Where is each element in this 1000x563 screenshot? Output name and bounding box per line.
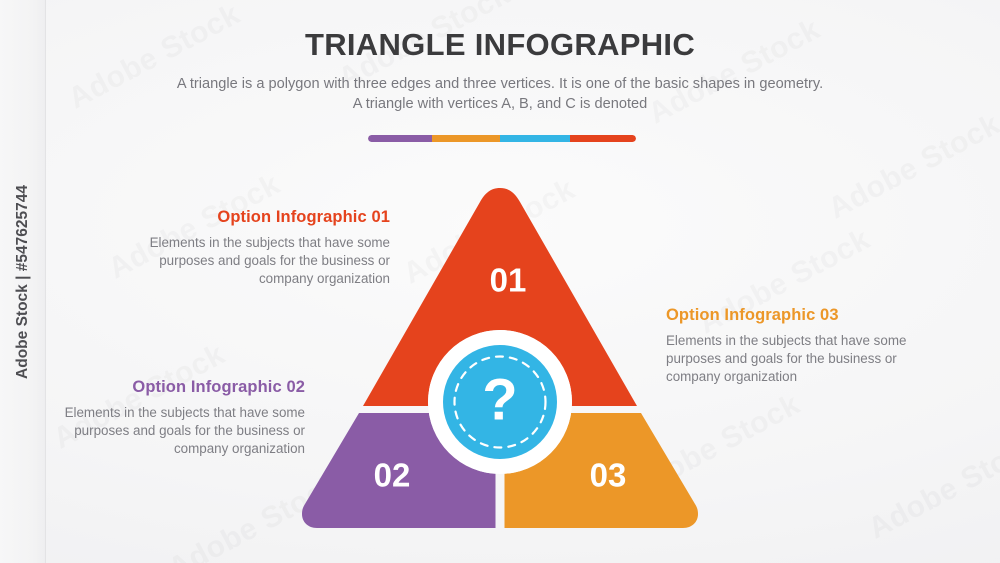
stock-credit-rail: Adobe Stock | #547625744 [0,0,46,563]
option-body-02: Elements in the subjects that have some … [45,404,305,459]
infographic-canvas: Adobe Stock Adobe Stock Adobe Stock Adob… [0,0,1000,563]
divider-segment-blue [500,135,570,142]
question-mark-icon: ? [482,368,517,433]
watermark-text: Adobe Stock [863,428,1000,547]
segment-number-01: 01 [490,262,527,299]
subtitle-line-1: A triangle is a polygon with three edges… [0,74,1000,94]
option-heading-01: Option Infographic 01 [130,208,390,227]
option-heading-03: Option Infographic 03 [666,306,916,325]
page-title: TRIANGLE INFOGRAPHIC [0,27,1000,63]
divider-bar [368,135,636,142]
option-block-02[interactable]: Option Infographic 02 Elements in the su… [45,378,305,459]
option-block-03[interactable]: Option Infographic 03 Elements in the su… [666,306,916,387]
watermark-text: Adobe Stock [823,108,1000,227]
stock-credit-label: Adobe Stock | #547625744 [14,185,32,379]
page-subtitle: A triangle is a polygon with three edges… [0,74,1000,114]
divider-segment-purple [368,135,432,142]
center-hub[interactable]: ? [428,330,572,474]
divider-segment-red [570,135,636,142]
divider-segment-orange [432,135,500,142]
segment-number-02: 02 [374,457,411,494]
header: TRIANGLE INFOGRAPHIC A triangle is a pol… [0,0,1000,114]
segment-number-03: 03 [590,457,627,494]
option-body-03: Elements in the subjects that have some … [666,332,916,387]
option-body-01: Elements in the subjects that have some … [130,234,390,289]
subtitle-line-2: A triangle with vertices A, B, and C is … [0,94,1000,114]
option-block-01[interactable]: Option Infographic 01 Elements in the su… [130,208,390,289]
option-heading-02: Option Infographic 02 [45,378,305,397]
